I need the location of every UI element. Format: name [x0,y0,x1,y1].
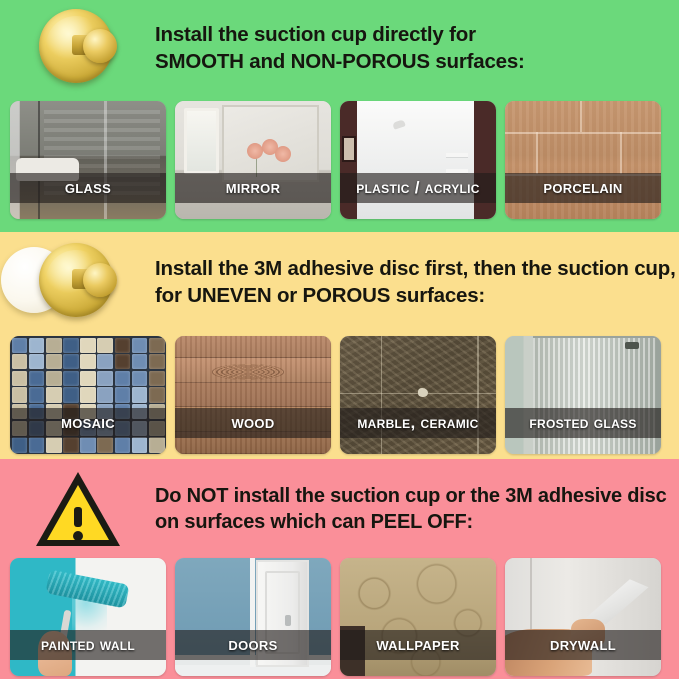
heading-line-2: SMOOTH and NON-POROUS surfaces: [155,48,673,75]
heading-line-1: Do NOT install the suction cup or the 3M… [155,483,673,509]
card-caption-label: Mirror [226,177,281,199]
grout-line [536,132,538,174]
mosaic-tile [29,387,45,402]
mosaic-tile [12,387,28,402]
card-row-uneven: Mosaic Wood [10,336,661,454]
flower-bloom [275,146,291,162]
card-caption: Porcelain [505,173,661,203]
card-caption-label: Drywall [550,634,616,656]
mosaic-tile [12,354,28,369]
mosaic-tile [149,338,165,353]
section-smooth-surfaces: Install the suction cup directly for SMO… [0,0,679,232]
adhesive-disc-and-suction-cup-icon [35,239,121,325]
surface-card-wood: Wood [175,336,331,454]
baseboard [175,665,331,676]
suction-cup-knob [83,29,117,63]
putty-knife [586,579,648,624]
card-caption-label: Plastic / Acrylic [356,178,480,198]
gold-suction-cup-icon [35,5,121,91]
surface-card-mirror: Mirror [175,101,331,219]
section-uneven-header: Install the 3M adhesive disc first, then… [0,232,679,332]
mosaic-tile [46,338,62,353]
mosaic-tile [63,371,79,386]
window-shape [184,108,218,174]
heading-line-1: Install the suction cup directly for [155,21,673,48]
mosaic-tile [63,387,79,402]
card-caption: Frosted glass [505,408,661,438]
exclamation-dot [73,531,83,541]
surface-card-marble-ceramic: Marble, Ceramic [340,336,496,454]
framed-picture [342,136,356,162]
mosaic-tile [132,354,148,369]
surface-card-drywall: Drywall [505,558,661,676]
mosaic-tile [149,354,165,369]
heading-line-2: for UNEVEN or POROUS surfaces: [155,282,676,309]
surface-card-wallpaper: Wallpaper [340,558,496,676]
card-caption-label: Painted Wall [41,635,135,655]
mosaic-tile [97,338,113,353]
mosaic-tile [80,437,96,452]
warning-triangle-icon [36,472,120,546]
mosaic-tile [46,371,62,386]
section-peel-off-warning: Do NOT install the suction cup or the 3M… [0,459,679,679]
surface-card-frosted-glass: Frosted glass [505,336,661,454]
mosaic-tile [149,387,165,402]
mosaic-tile [132,437,148,452]
wood-knot [212,364,284,379]
mosaic-tile [132,387,148,402]
grout-line [505,132,661,134]
mosaic-tile [63,354,79,369]
mosaic-tile [132,371,148,386]
suction-cup-knob [83,263,117,297]
card-caption: Wallpaper [340,630,496,660]
mosaic-tile [97,371,113,386]
surface-card-plastic-acrylic: Plastic / Acrylic [340,101,496,219]
surface-card-doors: Doors [175,558,331,676]
mosaic-tile [12,371,28,386]
mosaic-tile [12,338,28,353]
mosaic-tile [132,338,148,353]
section-smooth-heading: Install the suction cup directly for SMO… [155,21,679,75]
grout-line [580,101,582,132]
card-caption: Wood [175,408,331,438]
mosaic-tile [115,354,131,369]
card-caption: Doors [175,630,331,660]
door-handle [285,615,291,626]
section-peel-heading: Do NOT install the suction cup or the 3M… [155,483,679,536]
card-caption: Mirror [175,173,331,203]
icon-slot-peel [0,459,155,559]
section-uneven-surfaces: Install the 3M adhesive disc first, then… [0,232,679,459]
heading-line-2: on surfaces which can PEEL OFF: [155,509,673,535]
mosaic-tile [80,371,96,386]
icon-slot-uneven [0,232,155,332]
mosaic-tile [97,387,113,402]
card-caption-label: Wood [231,412,274,434]
mosaic-tile [46,387,62,402]
card-caption-label: Mosaic [61,412,115,434]
heading-line-1: Install the 3M adhesive disc first, then… [155,255,676,282]
mosaic-tile [80,354,96,369]
surface-card-painted-wall: Painted Wall [10,558,166,676]
section-smooth-header: Install the suction cup directly for SMO… [0,0,679,96]
mosaic-tile [29,338,45,353]
mosaic-tile [63,437,79,452]
mosaic-tile [46,437,62,452]
mosaic-tile [115,437,131,452]
card-caption: Mosaic [10,408,166,438]
surface-card-mosaic: Mosaic [10,336,166,454]
surface-card-glass: Glass [10,101,166,219]
marble-highlight [418,388,428,397]
card-caption-label: Glass [65,177,111,199]
card-caption: Drywall [505,630,661,660]
card-caption: Painted Wall [10,630,166,660]
mosaic-tile [149,437,165,452]
mosaic-tile [46,354,62,369]
mosaic-tile [29,437,45,452]
mosaic-tile [149,371,165,386]
icon-slot-smooth [0,0,155,96]
card-caption: Marble, Ceramic [340,408,496,438]
mosaic-tile [115,371,131,386]
exclamation-bar [74,507,82,527]
surface-compatibility-infographic: Install the suction cup directly for SMO… [0,0,679,679]
card-caption-label: Frosted glass [529,413,636,433]
mosaic-tile [29,354,45,369]
card-caption-label: Marble, Ceramic [357,413,478,433]
card-row-peel: Painted Wall Doors [10,558,661,676]
card-caption: Plastic / Acrylic [340,173,496,203]
mosaic-tile [29,371,45,386]
mosaic-tile [97,354,113,369]
grout-line [620,132,622,174]
shower-shelf [446,153,468,158]
mosaic-tile [115,387,131,402]
mosaic-tile [63,338,79,353]
section-peel-header: Do NOT install the suction cup or the 3M… [0,459,679,559]
mosaic-tile [80,387,96,402]
card-caption-label: Doors [228,634,277,656]
mosaic-tile [12,437,28,452]
section-uneven-heading: Install the 3M adhesive disc first, then… [155,255,679,309]
mosaic-tile [115,338,131,353]
door-hinge [625,342,639,349]
mosaic-tile [80,338,96,353]
card-caption-label: Wallpaper [376,634,459,656]
mosaic-tile [97,437,113,452]
surface-card-porcelain: Porcelain [505,101,661,219]
card-row-smooth: Glass Mirror [10,101,661,219]
card-caption-label: Porcelain [543,177,622,199]
card-caption: Glass [10,173,166,203]
